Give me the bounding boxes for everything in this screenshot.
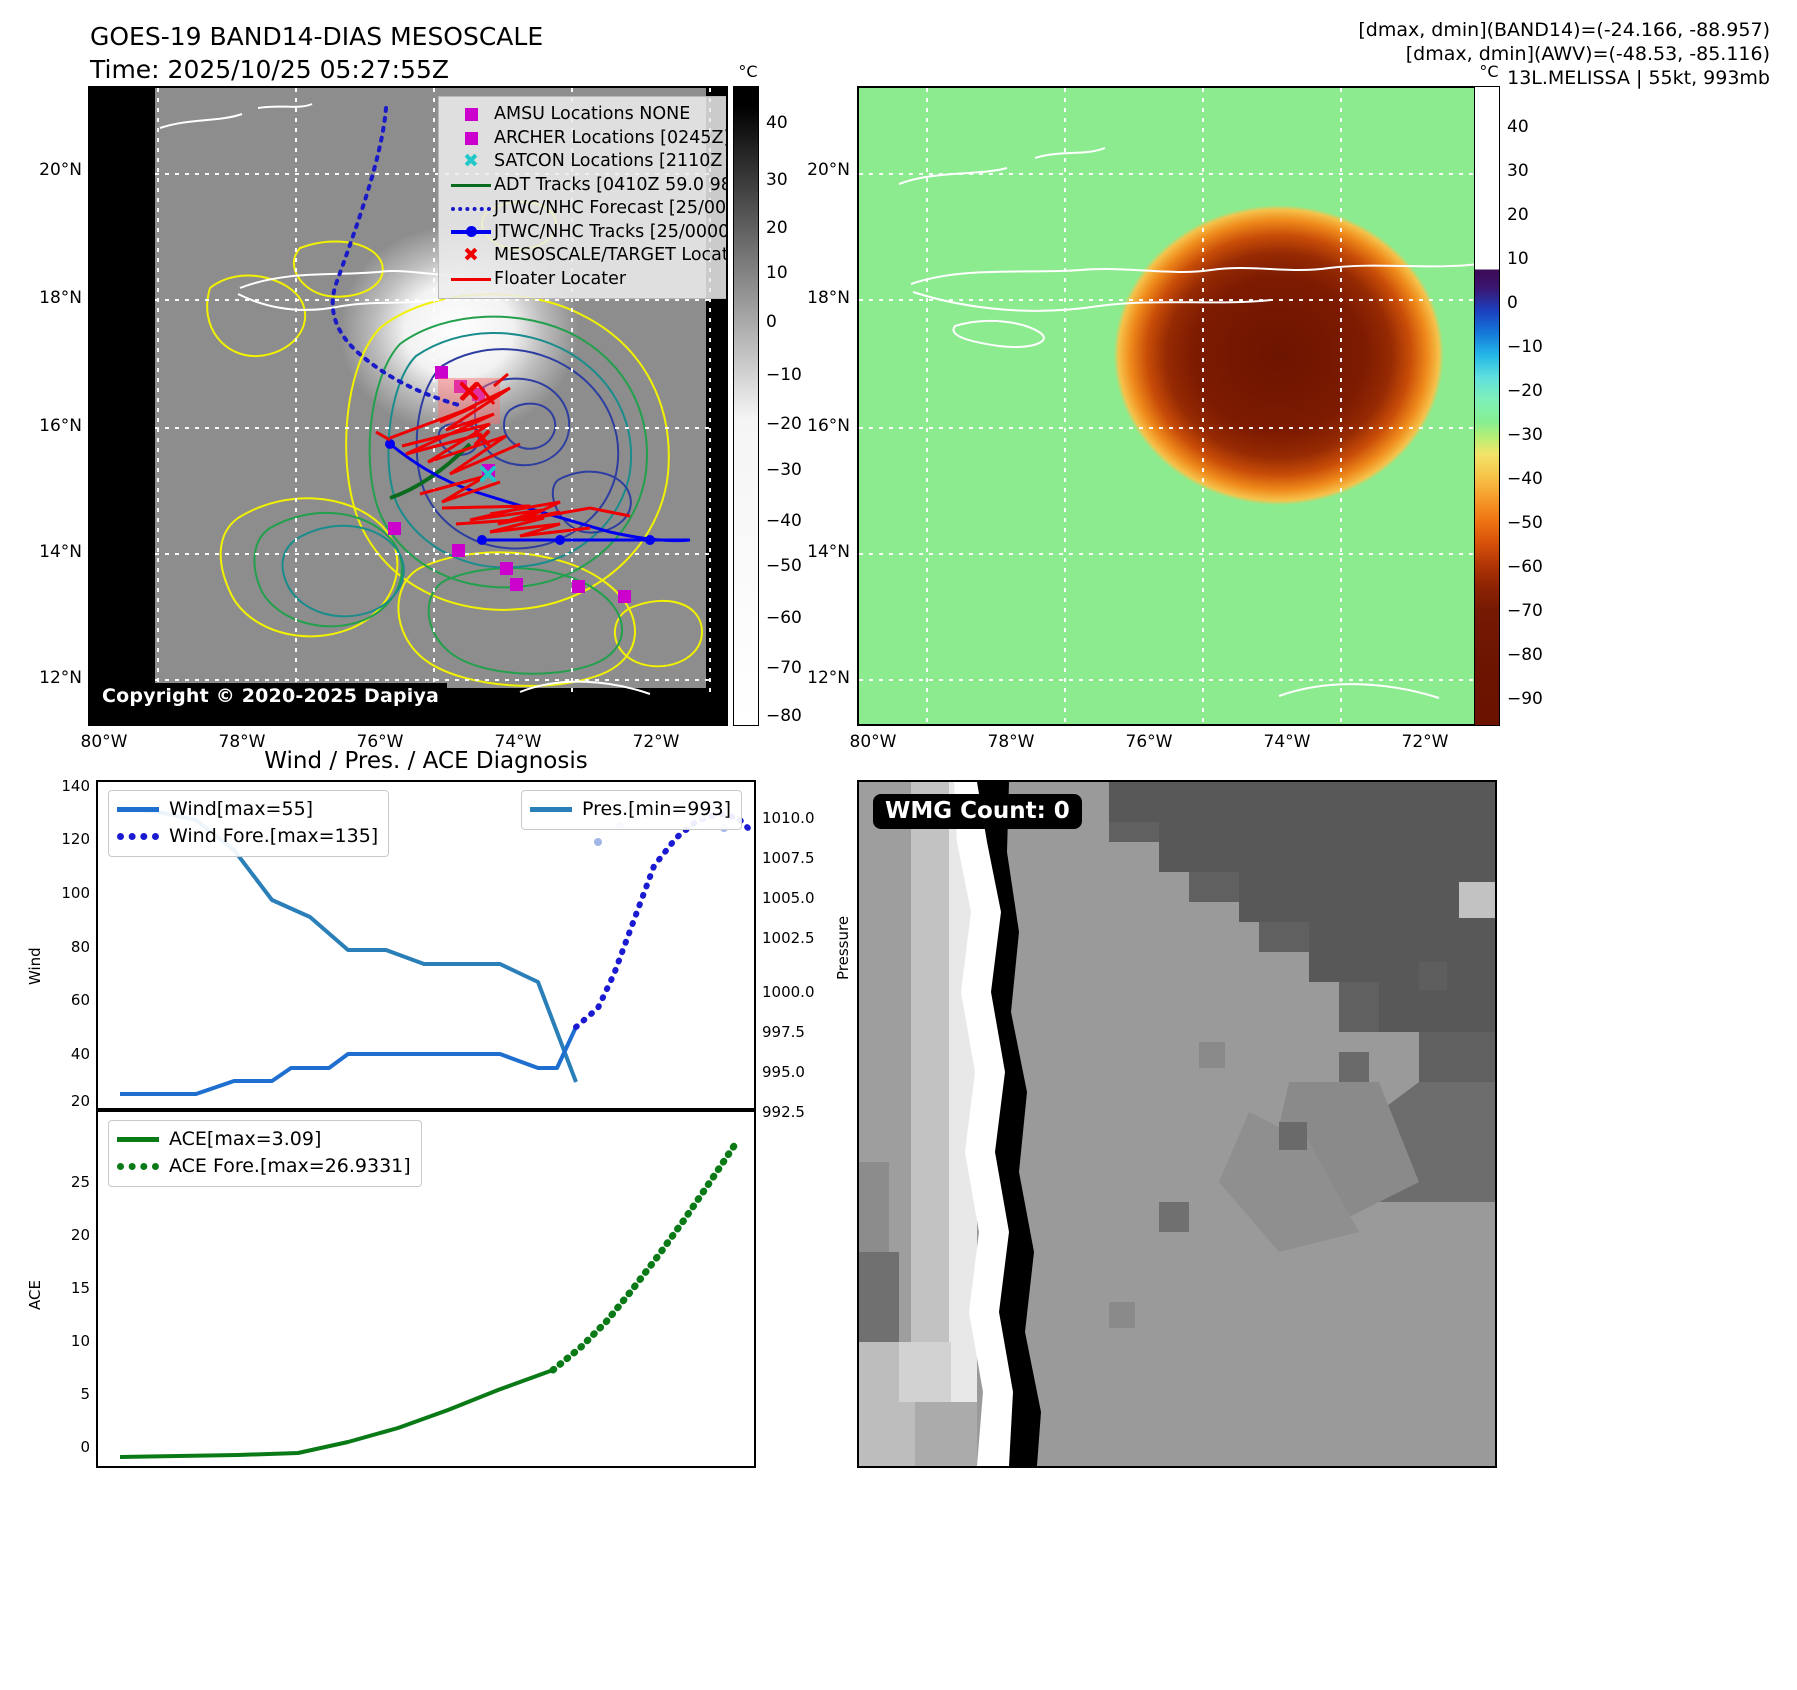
pressure-ytick: 995.0 [762, 1063, 805, 1081]
ace-ytick: 5 [48, 1385, 90, 1403]
map-legend: AMSU Locations NONE ARCHER Locations [02… [438, 96, 728, 299]
legend-label: MESOSCALE/TARGET Location [494, 244, 728, 268]
wind-ytick: 80 [38, 938, 90, 956]
legend-item-amsu: AMSU Locations NONE [448, 103, 728, 127]
legend-item-satcon: ✖ SATCON Locations [2110Z 49 993] [448, 150, 728, 174]
wmg-mask-image [859, 782, 1495, 1466]
red-line-icon [448, 278, 494, 281]
tr-cbtick: 30 [1507, 161, 1529, 181]
tr-xtick-78W: 78°W [988, 732, 1035, 752]
wind-ytick: 140 [38, 777, 90, 795]
ace-ytick: 15 [48, 1279, 90, 1297]
tl-cbtick: −80 [766, 706, 802, 726]
cyan-x-icon: ✖ [448, 152, 494, 171]
pressure-legend-label: Pres.[min=993] [582, 796, 731, 823]
tl-ytick-16N: 16°N [32, 416, 82, 436]
top-right-panel-header: [dmax, dmin](BAND14)=(-24.166, -88.957) … [1020, 18, 1770, 90]
ace-legend: ACE[max=3.09] ACE Fore.[max=26.9331] [108, 1120, 422, 1187]
tl-title-line2: Time: 2025/10/25 05:27:55Z [90, 55, 449, 84]
wind-ytick: 120 [38, 830, 90, 848]
tr-header-line2: [dmax, dmin](AWV)=(-48.53, -85.116) [1020, 42, 1770, 66]
tl-cbtick: 40 [766, 113, 788, 133]
ace-ytick: 10 [48, 1332, 90, 1350]
awv-water-vapor-map[interactable] [857, 86, 1497, 726]
tl-cbtick: −10 [766, 365, 802, 385]
magenta-square-icon [448, 132, 494, 145]
tr-xtick-74W: 74°W [1264, 732, 1311, 752]
green-dotted-line-icon [117, 1163, 169, 1170]
wind-ytick: 40 [38, 1045, 90, 1063]
tl-cbtick: −40 [766, 511, 802, 531]
tl-title-line1: GOES-19 BAND14-DIAS MESOSCALE [90, 22, 543, 51]
tl-ytick-12N: 12°N [32, 668, 82, 688]
wind-legend-label: Wind[max=55] [169, 796, 313, 823]
wmg-mask-panel[interactable]: WMG Count: 0 [857, 780, 1497, 1468]
tr-cbtick: 0 [1507, 293, 1518, 313]
tr-ytick-16N: 16°N [800, 416, 850, 436]
tl-colorbar [733, 86, 759, 726]
tr-xtick-80W: 80°W [850, 732, 897, 752]
green-line-icon [448, 184, 494, 187]
wind-fore-legend-item: Wind Fore.[max=135] [117, 823, 378, 850]
ace-legend-label: ACE[max=3.09] [169, 1126, 321, 1153]
legend-label: JTWC/NHC Tracks [25/0000Z] [494, 221, 728, 245]
wind-ytick: 60 [38, 991, 90, 1009]
tr-ytick-12N: 12°N [800, 668, 850, 688]
legend-item-floater-locater: Floater Locater [448, 268, 728, 292]
tr-cbtick: −80 [1507, 645, 1543, 665]
pressure-ytick: 1007.5 [762, 849, 815, 867]
wind-legend: Wind[max=55] Wind Fore.[max=135] [108, 790, 389, 857]
tl-ytick-20N: 20°N [32, 160, 82, 180]
wind-ytick: 20 [38, 1092, 90, 1110]
pressure-ytick: 1010.0 [762, 809, 815, 827]
pressure-ytick: 1000.0 [762, 983, 815, 1001]
tr-cbtick: 40 [1507, 117, 1529, 137]
legend-label: SATCON Locations [2110Z 49 993] [494, 150, 728, 174]
tr-cbtick: 10 [1507, 249, 1529, 269]
wmg-count-badge: WMG Count: 0 [873, 794, 1082, 829]
legend-label: Floater Locater [494, 268, 626, 292]
tr-xtick-72W: 72°W [1402, 732, 1449, 752]
pressure-ytick: 1005.0 [762, 889, 815, 907]
ace-axis-label: ACE [26, 1280, 44, 1310]
wind-pressure-chart[interactable]: Wind[max=55] Wind Fore.[max=135] Pres.[m… [96, 780, 756, 1110]
pressure-ytick: 997.5 [762, 1023, 805, 1041]
tl-cbtick: 30 [766, 170, 788, 190]
tl-cbtick: 10 [766, 263, 788, 283]
tr-ytick-14N: 14°N [800, 542, 850, 562]
ace-fore-legend-label: ACE Fore.[max=26.9331] [169, 1153, 411, 1180]
legend-label: ARCHER Locations [0245Z] [494, 127, 728, 151]
tl-colorbar-unit: °C [738, 62, 757, 81]
tr-ytick-20N: 20°N [800, 160, 850, 180]
tr-cbtick: −30 [1507, 425, 1543, 445]
awv-satellite-imagery [859, 88, 1495, 724]
blue-dotted-line-icon [117, 833, 169, 840]
tl-cbtick: 0 [766, 312, 777, 332]
tl-cbtick: 20 [766, 218, 788, 238]
teal-solid-line-icon [530, 807, 582, 812]
pressure-ytick: 992.5 [762, 1103, 805, 1121]
tr-cbtick: −40 [1507, 469, 1543, 489]
ace-legend-item: ACE[max=3.09] [117, 1126, 411, 1153]
tr-cbtick: −90 [1507, 689, 1543, 709]
tl-ytick-14N: 14°N [32, 542, 82, 562]
tr-xtick-76W: 76°W [1126, 732, 1173, 752]
ace-ytick: 25 [48, 1173, 90, 1191]
ace-fore-legend-item: ACE Fore.[max=26.9331] [117, 1153, 411, 1180]
tr-cbtick: −20 [1507, 381, 1543, 401]
green-solid-line-icon [117, 1137, 169, 1142]
blue-solid-line-icon [117, 807, 169, 812]
legend-item-adt-tracks: ADT Tracks [0410Z 59.0 987.6] [448, 174, 728, 198]
tl-cbtick: −20 [766, 414, 802, 434]
legend-item-jtwc-forecast: JTWC/NHC Forecast [25/0000Z] [448, 197, 728, 221]
goes-ir-mesoscale-map[interactable]: AMSU Locations NONE ARCHER Locations [02… [88, 86, 728, 726]
tr-cbtick: −60 [1507, 557, 1543, 577]
legend-label: JTWC/NHC Forecast [25/0000Z] [494, 197, 728, 221]
legend-label: ADT Tracks [0410Z 59.0 987.6] [494, 174, 728, 198]
pressure-axis-label: Pressure [834, 916, 852, 980]
wind-ytick: 100 [38, 884, 90, 902]
legend-label: AMSU Locations NONE [494, 103, 690, 127]
copyright-notice: Copyright © 2020-2025 Dapiya [96, 683, 447, 710]
tl-ytick-18N: 18°N [32, 288, 82, 308]
ace-ytick: 0 [48, 1438, 90, 1456]
tl-cbtick: −60 [766, 608, 802, 628]
tr-cbtick: −10 [1507, 337, 1543, 357]
blue-line-marker-icon [448, 230, 494, 234]
pressure-ytick: 1002.5 [762, 929, 815, 947]
top-left-panel-title: GOES-19 BAND14-DIAS MESOSCALETime: 2025/… [90, 20, 543, 86]
tr-header-line1: [dmax, dmin](BAND14)=(-24.166, -88.957) [1020, 18, 1770, 42]
legend-item-jtwc-tracks: JTWC/NHC Tracks [25/0000Z] [448, 221, 728, 245]
magenta-square-icon [448, 108, 494, 121]
pressure-legend-item: Pres.[min=993] [530, 796, 731, 823]
wind-pres-ace-title: Wind / Pres. / ACE Diagnosis [96, 748, 756, 774]
tr-ytick-18N: 18°N [800, 288, 850, 308]
tr-cbtick: 20 [1507, 205, 1529, 225]
tl-cbtick: −50 [766, 556, 802, 576]
wind-fore-legend-label: Wind Fore.[max=135] [169, 823, 378, 850]
ace-chart[interactable]: ACE[max=3.09] ACE Fore.[max=26.9331] [96, 1110, 756, 1468]
tl-cbtick: −30 [766, 460, 802, 480]
blue-dotted-line-icon [448, 207, 494, 211]
legend-item-mesoscale-target: ✖ MESOSCALE/TARGET Location [448, 244, 728, 268]
tr-cbtick: −70 [1507, 601, 1543, 621]
ace-ytick: 20 [48, 1226, 90, 1244]
tr-colorbar [1474, 86, 1500, 726]
tl-cbtick: −70 [766, 658, 802, 678]
red-x-icon: ✖ [448, 246, 494, 265]
wind-legend-item: Wind[max=55] [117, 796, 378, 823]
tr-colorbar-unit: °C [1479, 62, 1498, 81]
tr-cbtick: −50 [1507, 513, 1543, 533]
pressure-legend: Pres.[min=993] [521, 790, 742, 830]
legend-item-archer: ARCHER Locations [0245Z] [448, 127, 728, 151]
